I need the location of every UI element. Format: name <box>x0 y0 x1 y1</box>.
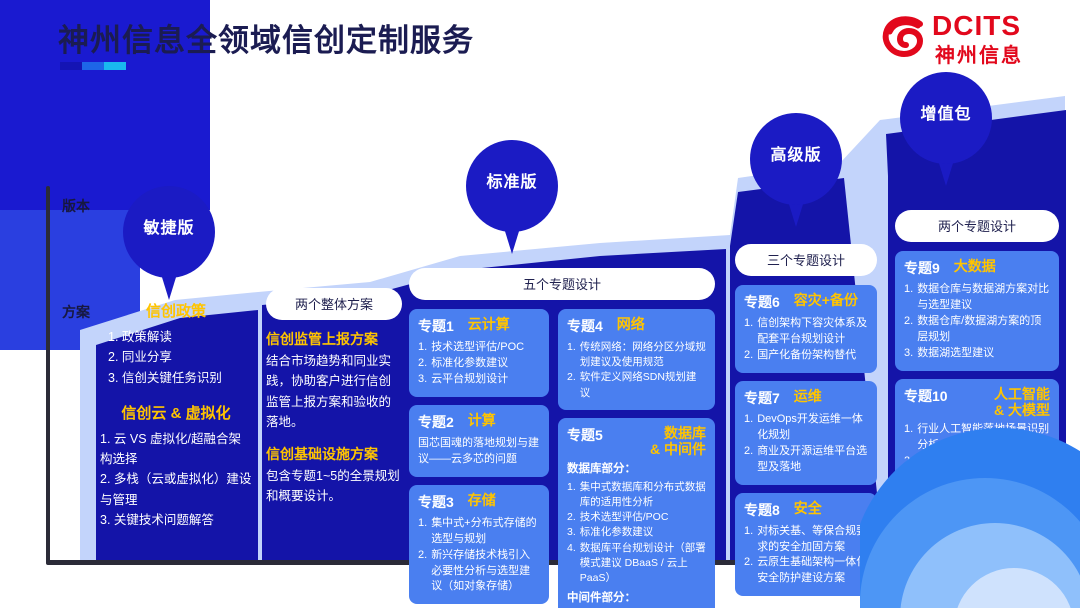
topic-card-6[interactable]: 专题6 容灾+备份 1.信创架构下容灾体系及配套平台规划设计 2.国产化备份架构… <box>735 285 877 373</box>
list-item: 3. 关键技术问题解答 <box>100 510 252 530</box>
list-item: 数据库平台规划设计（部署模式建议 DBaaS / 云上PaaS） <box>580 541 706 587</box>
list-item: 标准化参数建议 <box>431 356 508 372</box>
axis-label-solution: 方案 <box>62 302 90 322</box>
topic-items: 1.技术选型评估/POC 2.标准化参数建议 3.云平台规划设计 <box>418 340 540 388</box>
topic-name: 计算 <box>468 412 496 428</box>
list-item: 技术选型评估/POC <box>580 510 669 525</box>
slide-canvas: 版本 方案 神州信息全领域信创定制服务 DCITS 神州信息 敏捷版 标准版 高… <box>0 0 1080 608</box>
advanced-topics-column: 三个专题设计 专题6 容灾+备份 1.信创架构下容灾体系及配套平台规划设计 2.… <box>735 244 877 596</box>
topic-card-8[interactable]: 专题8 安全 1.对标关基、等保合规要求的安全加固方案 2.云原生基础架构一体化… <box>735 493 877 597</box>
list-item: 技术选型评估/POC <box>431 340 524 356</box>
list-item: 信创架构下容灾体系及配套平台规划设计 <box>757 316 868 348</box>
list-item: 3. 信创关键任务识别 <box>100 368 252 388</box>
pill-two-overall-solutions[interactable]: 两个整体方案 <box>266 288 402 320</box>
title-underline-bars <box>60 62 126 70</box>
pill-three-topic-designs[interactable]: 三个专题设计 <box>735 244 877 276</box>
topic-card-9[interactable]: 专题9 大数据 1.数据仓库与数据湖方案对比与选型建议 2.数据仓库/数据湖方案… <box>895 251 1059 371</box>
list-item: 软件定义网络SDN规划建议 <box>580 370 706 400</box>
topic-number: 专题2 <box>418 412 454 432</box>
policy-item-list: 1. 政策解读 2. 同业分享 3. 信创关键任务识别 <box>100 327 252 388</box>
topic-name: 运维 <box>794 388 822 404</box>
topic-number: 专题4 <box>567 316 603 336</box>
list-item: 1. 政策解读 <box>100 327 252 347</box>
topic-name: 安全 <box>794 500 822 516</box>
topic-card-1[interactable]: 专题1 云计算 1.技术选型评估/POC 2.标准化参数建议 3.云平台规划设计 <box>409 309 549 397</box>
list-item: 商业及开源运维平台选型及落地 <box>757 444 868 476</box>
cloud-item-list: 1. 云 VS 虚拟化/超融合架构选择 2. 多栈（云或虚拟化）建设与管理 3.… <box>100 429 252 530</box>
brand-logo: DCITS 神州信息 <box>880 8 1060 70</box>
axis-label-version: 版本 <box>62 196 90 216</box>
topic-name: 容灾+备份 <box>794 292 858 308</box>
dcits-swirl-icon <box>880 12 930 62</box>
topic-number: 专题3 <box>418 492 454 512</box>
section-title-policy: 信创政策 <box>100 300 252 321</box>
standard-overall-column: 两个整体方案 信创监管上报方案 结合市场趋势和同业实践，协助客户进行信创监管上报… <box>266 288 402 507</box>
list-item: 2. 同业分享 <box>100 347 252 367</box>
subhead-database: 数据库部分： <box>567 461 706 478</box>
pin-valueadd[interactable]: 增值包 <box>900 72 992 190</box>
list-item: 云原生基础架构一体化安全防护建设方案 <box>757 555 868 587</box>
topic-name: 存储 <box>468 492 496 508</box>
list-item: 集中式数据库和分布式数据库的适用性分析 <box>580 480 706 510</box>
infrastructure-paragraph: 包含专题1~5的全景规划和概要设计。 <box>266 466 402 507</box>
section-title-infrastructure: 信创基础设施方案 <box>266 444 402 464</box>
list-item: 2. 多栈（云或虚拟化）建设与管理 <box>100 469 252 510</box>
topic-items: 1.传统网络：网络分区分域规划建议及使用规范 2.软件定义网络SDN规划建议 <box>567 340 706 401</box>
topic-name: 人工智能 & 大模型 <box>962 386 1050 418</box>
topic-card-4[interactable]: 专题4 网络 1.传统网络：网络分区分域规划建议及使用规范 2.软件定义网络SD… <box>558 309 715 410</box>
pin-label: 增值包 <box>900 100 992 124</box>
topic-name: 大数据 <box>954 258 996 274</box>
list-item: 传统网络：网络分区分域规划建议及使用规范 <box>580 340 706 370</box>
topic-items: 1.信创架构下容灾体系及配套平台规划设计 2.国产化备份架构替代 <box>744 316 868 364</box>
topic-number: 专题8 <box>744 500 780 520</box>
list-item: 国产化备份架构替代 <box>757 348 856 364</box>
topic-number: 专题1 <box>418 316 454 336</box>
topic-items: 1.对标关基、等保合规要求的安全加固方案 2.云原生基础架构一体化安全防护建设方… <box>744 524 868 588</box>
list-item: 云平台规划设计 <box>431 372 508 388</box>
topic-card-3[interactable]: 专题3 存储 1.集中式+分布式存储的选型与规划 2.新兴存储技术栈引入必要性分… <box>409 485 549 605</box>
list-item: 数据仓库与数据湖方案对比与选型建议 <box>917 282 1050 314</box>
topic-items: 1.DevOps开发运维一体化规划 2.商业及开源运维平台选型及落地 <box>744 412 868 476</box>
list-item: 对标关基、等保合规要求的安全加固方案 <box>757 524 868 556</box>
logo-wordmark: DCITS <box>932 10 1021 42</box>
topic-number: 专题10 <box>904 386 948 406</box>
list-item: 集中式+分布式存储的选型与规划 <box>431 516 540 548</box>
topic-name: 云计算 <box>468 316 510 332</box>
pin-advanced[interactable]: 高级版 <box>750 113 842 231</box>
subhead-middleware: 中间件部分： <box>567 590 706 607</box>
decorative-arcs <box>860 418 1080 608</box>
pin-label: 敏捷版 <box>123 214 215 238</box>
topic-plain-text: 国芯国魂的落地规划与建议——云多芯的问题 <box>418 436 540 468</box>
page-title: 神州信息全领域信创定制服务 <box>58 15 474 60</box>
topic-name: 网络 <box>617 316 645 332</box>
topic-name: 数据库 & 中间件 <box>617 425 706 457</box>
topic-items: 1.集中式+分布式存储的选型与规划 2.新兴存储技术栈引入必要性分析与选型建议（… <box>418 516 540 596</box>
topic-number: 专题6 <box>744 292 780 312</box>
list-item: 1. 云 VS 虚拟化/超融合架构选择 <box>100 429 252 470</box>
pin-agile[interactable]: 敏捷版 <box>123 186 215 304</box>
list-item: DevOps开发运维一体化规划 <box>757 412 868 444</box>
topic-card-5[interactable]: 专题5 数据库 & 中间件 数据库部分： 1.集中式数据库和分布式数据库的适用性… <box>558 418 715 608</box>
list-item: 数据湖选型建议 <box>917 346 994 362</box>
agile-column: 信创政策 1. 政策解读 2. 同业分享 3. 信创关键任务识别 信创云 & 虚… <box>100 300 252 530</box>
pill-five-topic-designs[interactable]: 五个专题设计 <box>409 268 715 300</box>
list-item: 标准化参数建议 <box>580 525 654 540</box>
pin-label: 标准版 <box>466 168 558 192</box>
section-title-supervision: 信创监管上报方案 <box>266 329 402 349</box>
section-title-cloud: 信创云 & 虚拟化 <box>100 402 252 423</box>
topic-card-7[interactable]: 专题7 运维 1.DevOps开发运维一体化规划 2.商业及开源运维平台选型及落… <box>735 381 877 485</box>
pin-standard[interactable]: 标准版 <box>466 140 558 258</box>
pill-two-topic-designs[interactable]: 两个专题设计 <box>895 210 1059 242</box>
list-item: 数据仓库/数据湖方案的顶层规划 <box>917 314 1050 346</box>
logo-wordmark-cn: 神州信息 <box>935 39 1023 68</box>
pin-label: 高级版 <box>750 141 842 165</box>
axis-vertical <box>46 186 50 564</box>
topic-number: 专题7 <box>744 388 780 408</box>
topic-items: 数据库部分： 1.集中式数据库和分布式数据库的适用性分析 2.技术选型评估/PO… <box>567 461 706 608</box>
topic-card-2[interactable]: 专题2 计算 国芯国魂的落地规划与建议——云多芯的问题 <box>409 405 549 477</box>
topic-number: 专题5 <box>567 425 603 445</box>
supervision-paragraph: 结合市场趋势和同业实践，协助客户进行信创监管上报方案和验收的落地。 <box>266 351 402 432</box>
list-item: 新兴存储技术栈引入必要性分析与选型建议（如对象存储） <box>431 548 540 596</box>
standard-topics-column: 五个专题设计 专题1 云计算 1.技术选型评估/POC 2.标准化参数建议 3.… <box>409 268 715 608</box>
topic-number: 专题9 <box>904 258 940 278</box>
topic-items: 1.数据仓库与数据湖方案对比与选型建议 2.数据仓库/数据湖方案的顶层规划 3.… <box>904 282 1050 362</box>
